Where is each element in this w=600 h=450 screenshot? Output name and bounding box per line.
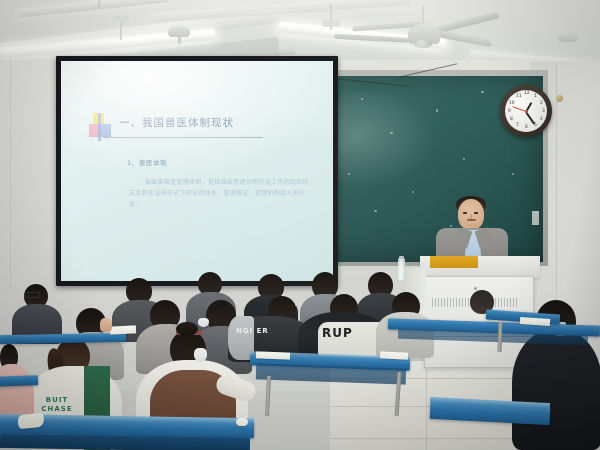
light-canopy-2 [322,20,340,27]
slide-title-underline [103,137,263,138]
ceiling-speaker-stem-1 [178,36,181,44]
light-canopy-1 [113,16,129,22]
student-torso-right [512,330,600,450]
clock-number: 3 [542,109,545,114]
ceiling-speaker-2 [278,46,296,55]
clock-face: 12 1 2 3 4 5 6 7 8 9 10 11 [505,90,547,132]
face-mask [198,318,209,327]
clock-center-pin [525,110,528,113]
clock-number: 4 [540,117,543,122]
clock-number: 10 [509,101,515,106]
slide-body-text: 指国家兽医管理体制，是指国家管理动物防疫工作的组织形式及其在法规形式下的法律体系… [129,177,313,210]
desk-left-mid [0,375,38,387]
chalk-tray-clip [532,211,539,225]
wall-clock: 12 1 2 3 4 5 6 7 8 9 10 11 [500,85,552,137]
garment-text-chase: BUITCHASE [30,396,84,414]
clock-mount-screw [556,95,563,102]
clock-number: 12 [524,91,530,96]
blackboard-glare [321,91,443,193]
clock-minute-hand [525,111,535,124]
eyeglasses [24,292,40,298]
speaker-mouth [467,219,476,221]
garment-text-rup: RUP [322,326,353,340]
clock-number: 9 [508,109,511,114]
bottle-cap [399,256,404,259]
hair-bun [176,322,198,336]
podium-wood-trim [430,256,478,268]
projected-slide: 一、我国兽医体制现状 1、兽医体制 指国家兽医管理体制，是指国家管理动物防疫工作… [61,61,333,281]
ceiling-speaker-3 [558,32,578,42]
notebook-paper [256,351,290,359]
garment-text-ngier: NGI ER [236,327,269,335]
clock-number: 11 [516,94,522,99]
tissue-small [236,418,248,426]
clock-number: 2 [540,101,543,106]
notebook-paper [380,351,408,359]
desk-leg [265,376,271,416]
notebook-paper [110,325,136,334]
student-hand [100,318,112,332]
wall-edge-left [10,58,11,288]
slide-decoration-icon [89,113,112,143]
podium-lock-screw [474,287,477,290]
light-rod-1 [98,0,100,8]
fan-hub [414,40,432,48]
face-mask [194,348,207,362]
clock-number: 6 [525,125,528,130]
projection-screen: 一、我国兽医体制现状 1、兽医体制 指国家兽医管理体制，是指国家管理动物防疫工作… [56,56,338,286]
clock-number: 7 [516,123,519,128]
slide-subtitle: 1、兽医体制 [127,157,307,167]
slide-title: 一、我国兽医体制现状 [119,115,319,130]
water-bottle [398,258,405,280]
clock-number: 1 [534,94,537,99]
clock-number: 8 [510,117,513,122]
classroom-photo: 12 1 2 3 4 5 6 7 8 9 10 11 [0,0,600,450]
